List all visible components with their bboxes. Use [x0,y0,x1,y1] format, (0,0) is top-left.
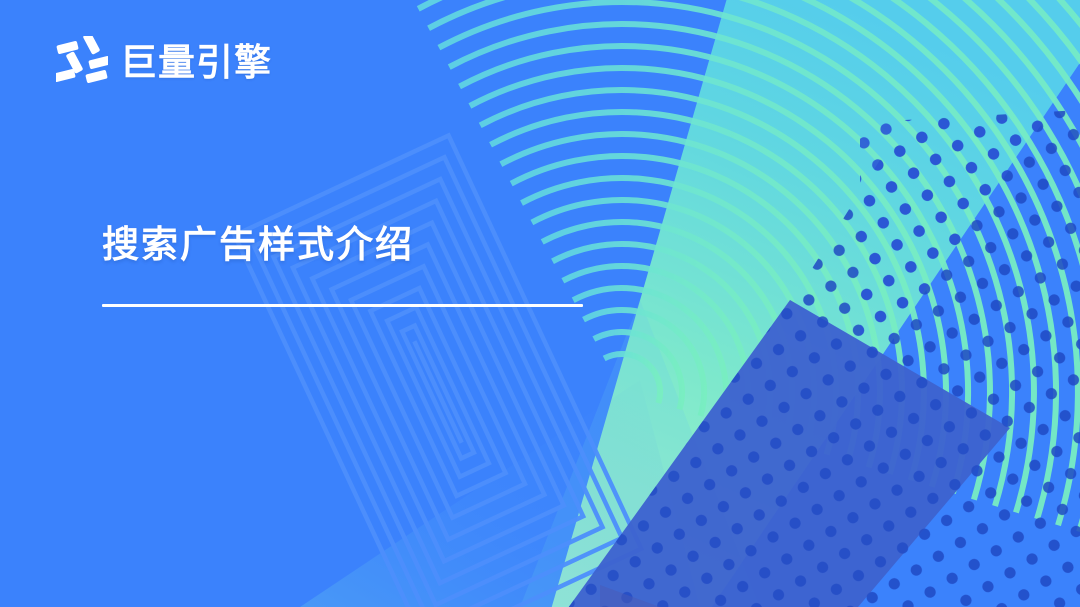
title-underline-rule [102,304,583,307]
page-title: 搜索广告样式介绍 [102,222,583,268]
title-block: 搜索广告样式介绍 [102,222,583,307]
juliang-pinwheel-logo-icon [56,36,108,88]
presentation-title-slide: 巨量引擎 搜索广告样式介绍 [0,0,1080,607]
brand-logo-lockup: 巨量引擎 [56,36,272,88]
brand-wordmark: 巨量引擎 [120,44,272,81]
